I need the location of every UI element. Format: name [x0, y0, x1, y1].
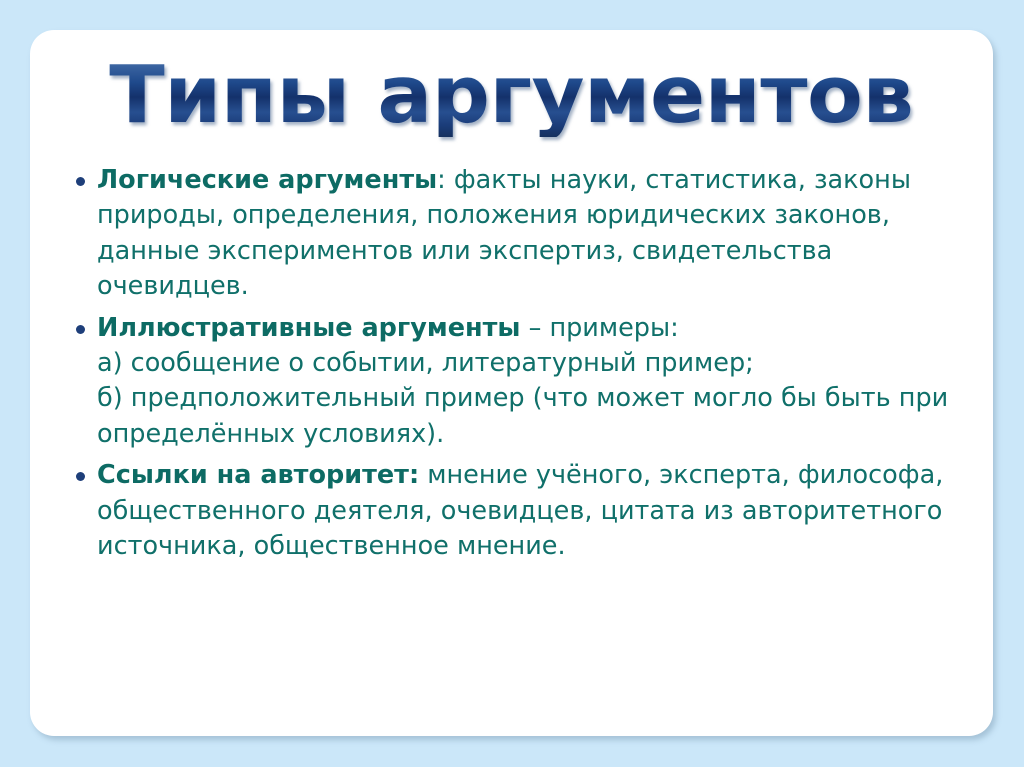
list-item: Иллюстративные аргументы – примеры: а) с…	[48, 311, 978, 453]
bullet-dot-icon	[76, 177, 85, 186]
bullet-dot-icon	[76, 325, 85, 334]
list-item-subline-a: а) сообщение о событии, литературный при…	[97, 346, 978, 381]
list-item-lead: Логические аргументы	[97, 165, 437, 195]
list-item-lead: Ссылки на авторитет:	[97, 460, 419, 490]
page-title-container: Типы аргументов	[30, 54, 993, 137]
slide-card: Типы аргументов Логические аргументы: фа…	[30, 30, 993, 736]
list-item-lead: Иллюстративные аргументы	[97, 313, 520, 343]
page-title: Типы аргументов	[109, 54, 913, 137]
bullet-dot-icon	[76, 472, 85, 481]
list-item: Логические аргументы: факты науки, стати…	[48, 163, 978, 305]
list-item: Ссылки на авторитет: мнение учёного, экс…	[48, 458, 978, 564]
bullet-list: Логические аргументы: факты науки, стати…	[48, 163, 978, 564]
slide-root: Типы аргументов Логические аргументы: фа…	[0, 0, 1024, 767]
list-item-text: – примеры:	[520, 313, 678, 343]
list-item-subline-b: б) предположительный пример (что может м…	[97, 381, 978, 452]
